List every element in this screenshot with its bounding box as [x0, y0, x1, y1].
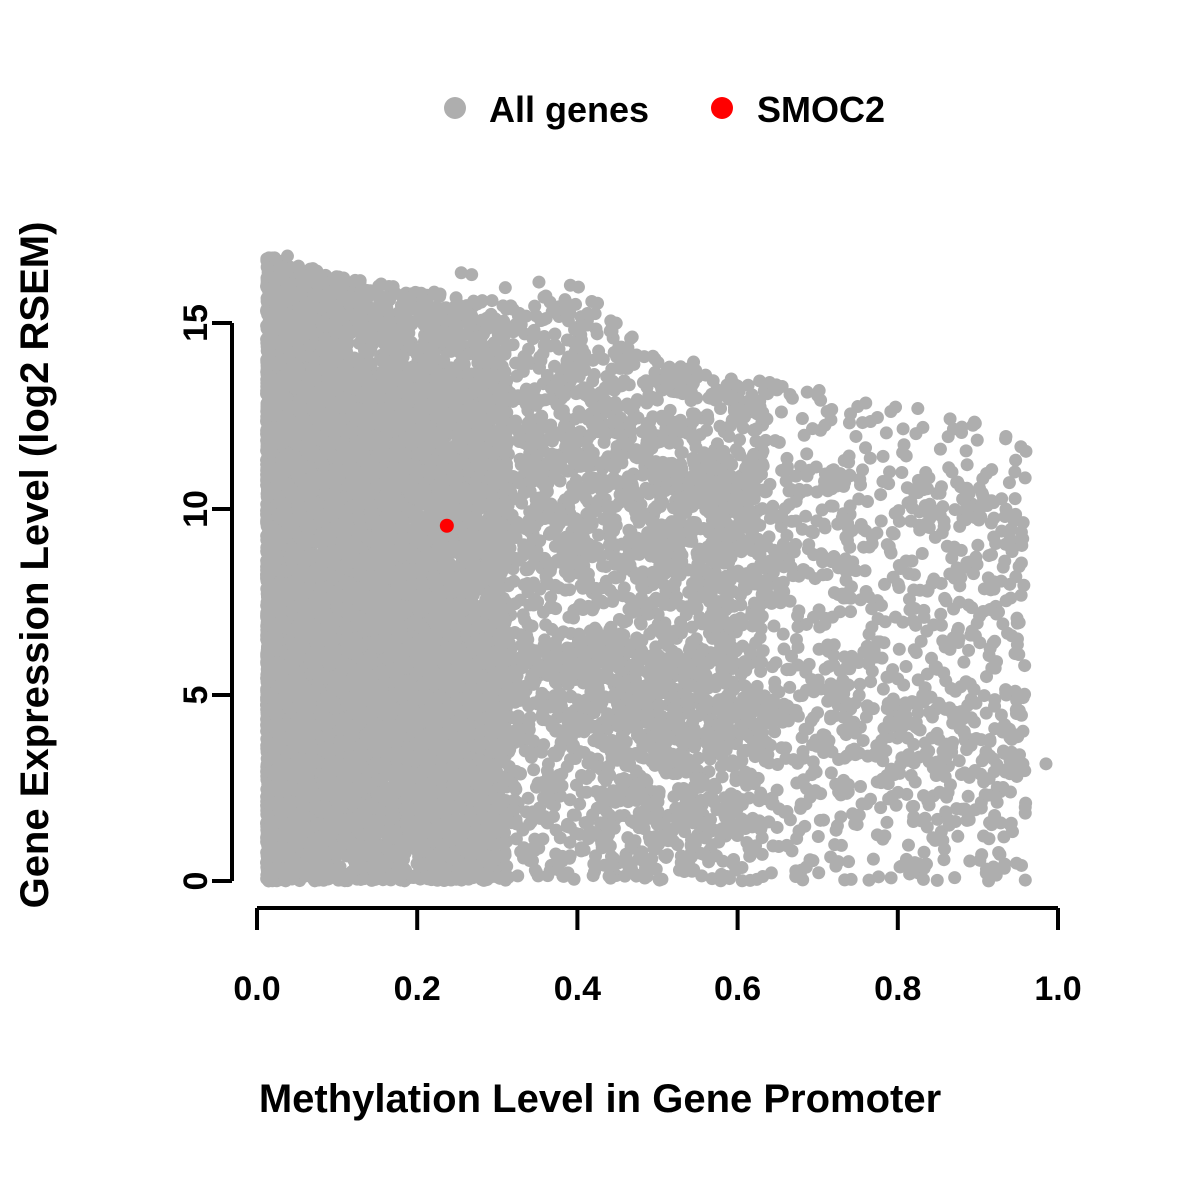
y-axis — [212, 323, 232, 881]
legend-label-smoc2: SMOC2 — [757, 89, 885, 130]
data-point-smoc2 — [440, 519, 454, 533]
x-tick-label-0.6: 0.6 — [714, 970, 761, 1008]
y-tick-label-10: 10 — [177, 490, 215, 528]
chart-canvas: 051015 0.00.20.40.60.81.0 Methylation Le… — [0, 0, 1200, 1200]
x-tick-marks — [257, 908, 1058, 930]
x-axis — [257, 908, 1058, 930]
legend: All genes SMOC2 — [444, 89, 885, 130]
smoc2-point — [440, 519, 454, 533]
x-tick-label-0.8: 0.8 — [874, 970, 921, 1008]
x-tick-label-0.4: 0.4 — [554, 970, 601, 1008]
x-axis-title: Methylation Level in Gene Promoter — [259, 1077, 941, 1121]
y-axis-line — [212, 323, 232, 881]
legend-marker-all-genes — [444, 97, 466, 119]
legend-marker-smoc2 — [711, 97, 733, 119]
x-tick-label-1.0: 1.0 — [1034, 970, 1081, 1008]
y-tick-labels: 051015 — [177, 304, 215, 890]
y-tick-label-15: 15 — [177, 304, 215, 342]
data-points-all-genes — [260, 250, 1052, 888]
y-tick-label-5: 5 — [177, 686, 215, 705]
scatter-plot-figure: 051015 0.00.20.40.60.81.0 Methylation Le… — [0, 0, 1200, 1200]
legend-label-all-genes: All genes — [489, 89, 649, 130]
y-axis-title: Gene Expression Level (log2 RSEM) — [13, 222, 57, 909]
y-tick-label-0: 0 — [177, 872, 215, 891]
x-tick-label-0.0: 0.0 — [233, 970, 280, 1008]
x-tick-labels: 0.00.20.40.60.81.0 — [233, 970, 1081, 1008]
x-tick-label-0.2: 0.2 — [394, 970, 441, 1008]
